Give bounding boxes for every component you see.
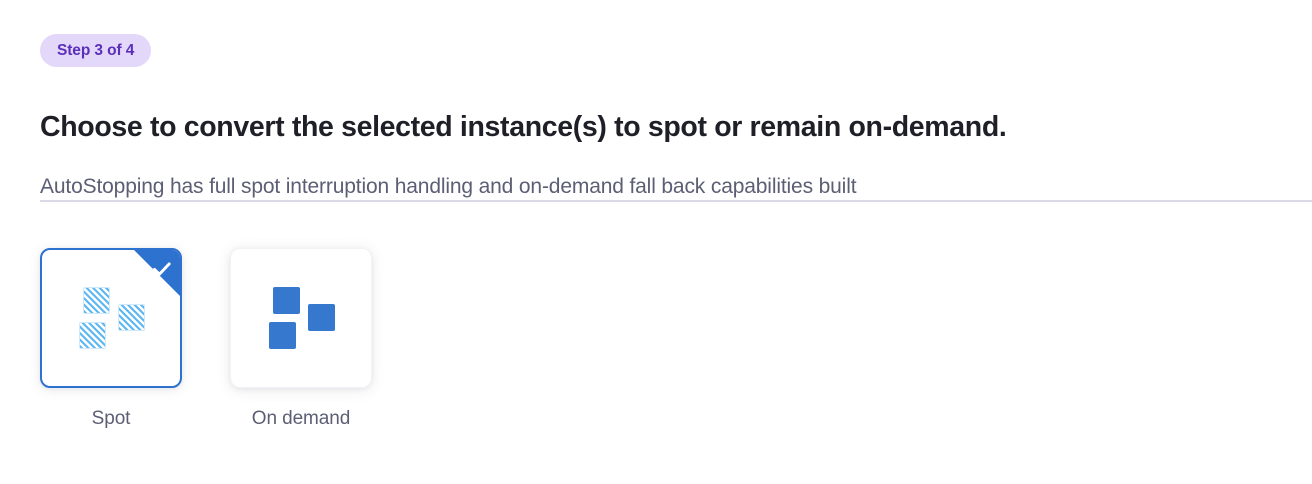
check-icon	[150, 257, 174, 286]
option-on-demand[interactable]: On demand	[230, 248, 372, 433]
solid-blocks-icon	[265, 287, 337, 349]
step-page: Step 3 of 4 Choose to convert the select…	[0, 0, 1312, 484]
hatched-block-1	[83, 287, 110, 314]
solid-block-1	[273, 287, 300, 314]
hatched-block-3	[79, 322, 106, 349]
solid-block-2	[308, 304, 335, 331]
hatched-block-2	[118, 304, 145, 331]
page-title: Choose to convert the selected instance(…	[40, 107, 1007, 147]
hatched-blocks-icon	[75, 287, 147, 349]
section-divider	[40, 200, 1312, 202]
option-label-spot: Spot	[92, 404, 131, 433]
solid-block-3	[269, 322, 296, 349]
option-card-row: Spot On demand	[40, 248, 372, 433]
step-badge: Step 3 of 4	[40, 34, 151, 67]
option-spot[interactable]: Spot	[40, 248, 182, 433]
option-card-on-demand[interactable]	[230, 248, 372, 388]
option-card-spot[interactable]	[40, 248, 182, 388]
step-badge-label: Step 3 of 4	[57, 43, 134, 59]
page-subtitle: AutoStopping has full spot interruption …	[40, 172, 856, 202]
option-label-on-demand: On demand	[252, 404, 350, 433]
